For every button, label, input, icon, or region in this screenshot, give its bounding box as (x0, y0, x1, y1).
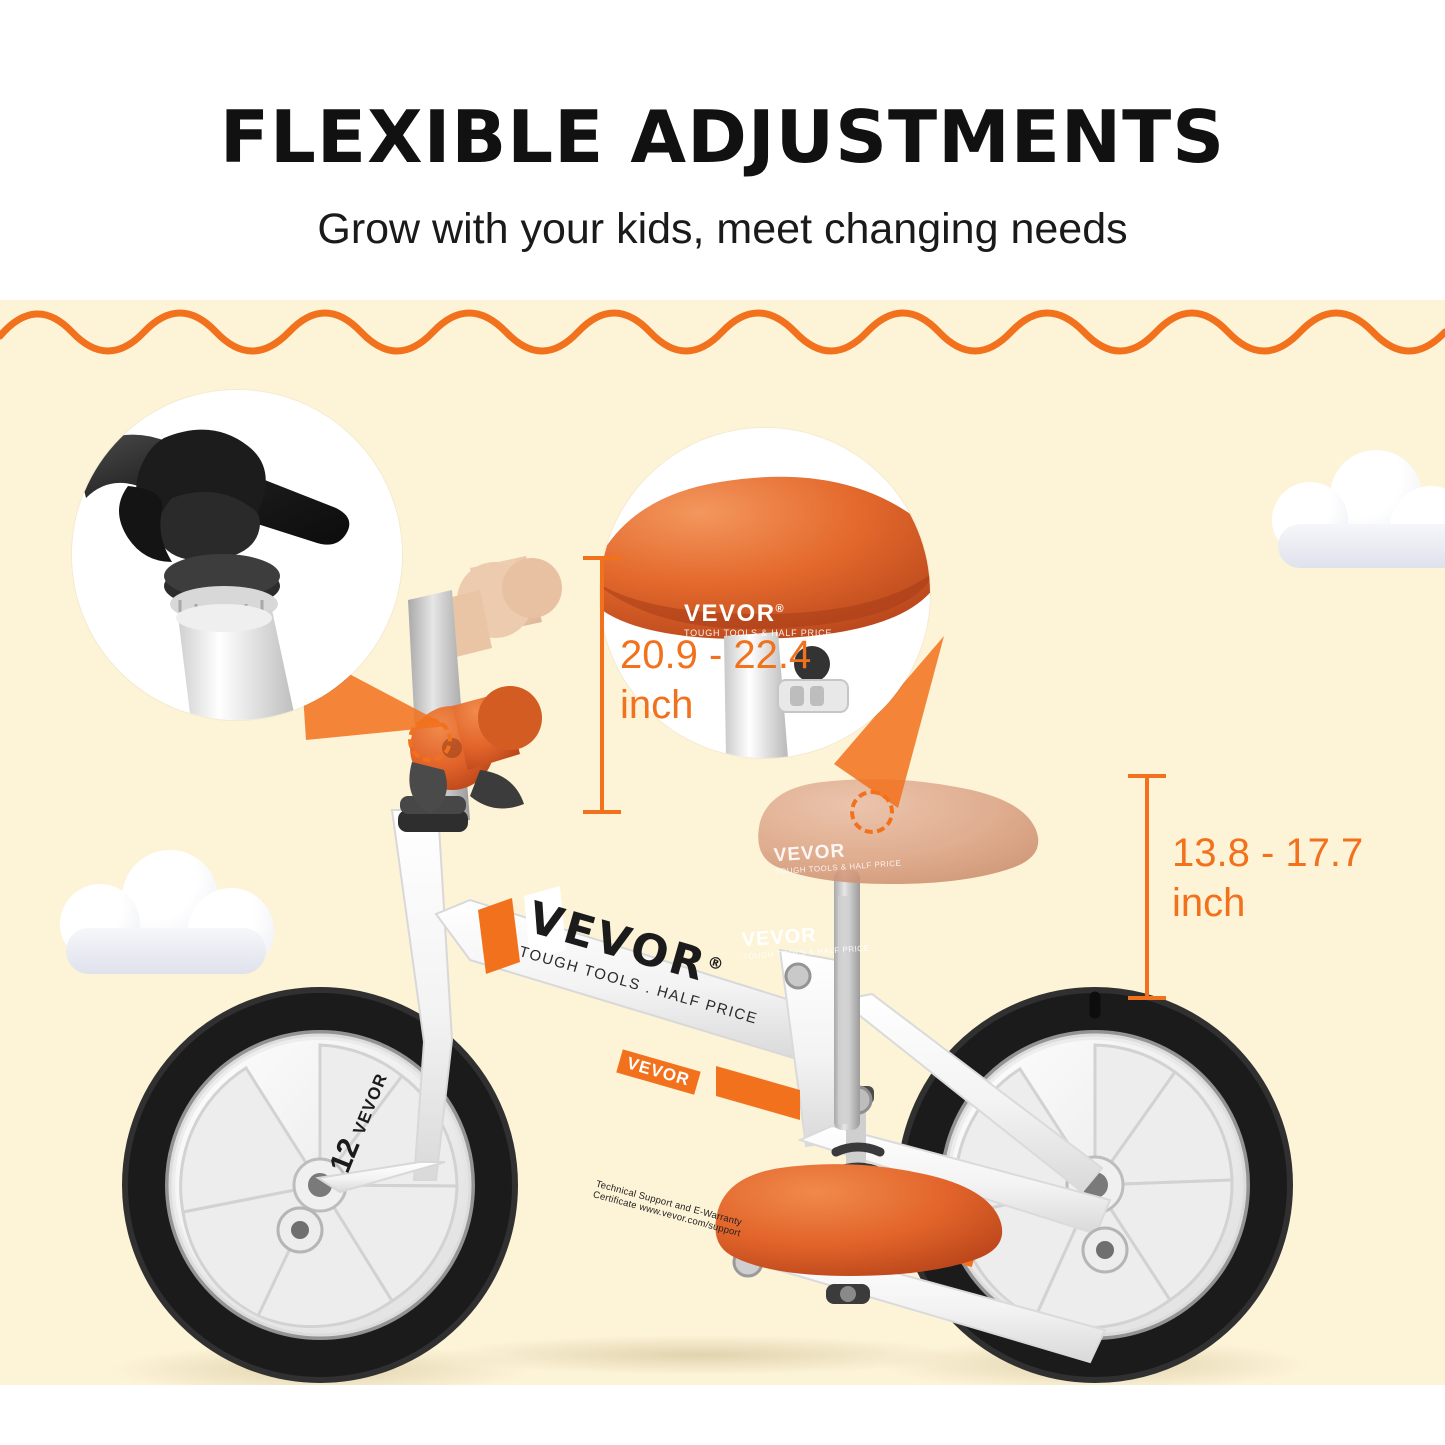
handlebar-clamp-callout (72, 390, 402, 720)
page-title: FLEXIBLE ADJUSTMENTS (0, 95, 1445, 179)
seat-target-icon (850, 790, 894, 834)
header-band: FLEXIBLE ADJUSTMENTS Grow with your kids… (0, 0, 1445, 300)
promo-image: FLEXIBLE ADJUSTMENTS Grow with your kids… (0, 0, 1445, 1445)
measure-handlebar-label: 20.9 - 22.4 inch (620, 630, 920, 730)
handlebar-target-icon (408, 718, 452, 762)
footer-band (0, 1385, 1445, 1445)
product-illustration: VEVOR TOUGH TOOLS & HALF PRICE VEVOR TOU… (0, 300, 1445, 1445)
page-subtitle: Grow with your kids, meet changing needs (0, 205, 1445, 254)
measure-seat-label: 13.8 - 17.7 inch (1172, 828, 1445, 928)
